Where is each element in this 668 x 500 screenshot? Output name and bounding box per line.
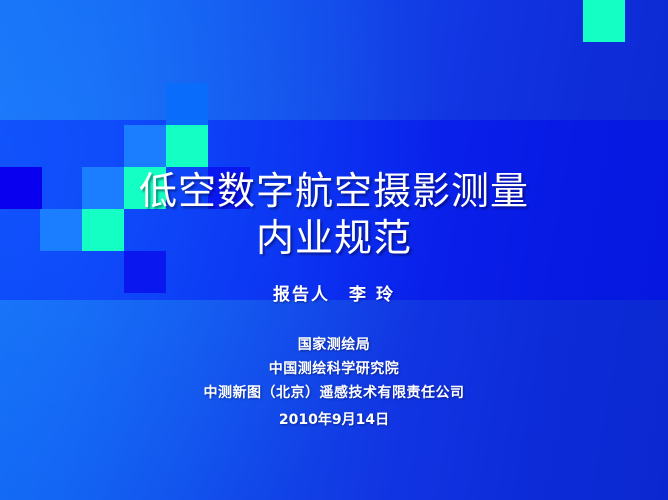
slide-content: 低空数字航空摄影测量 内业规范 报告人 李 玲 国家测绘局 中国测绘科学研究院 … (0, 0, 668, 500)
slide-title: 低空数字航空摄影测量 内业规范 (0, 168, 668, 262)
organization-line: 中国测绘科学研究院 (0, 357, 668, 381)
organization-line: 中测新图（北京）遥感技术有限责任公司 (0, 381, 668, 405)
presentation-date: 2010年9月14日 (0, 408, 668, 432)
organization-line: 国家测绘局 (0, 333, 668, 357)
presentation-title-slide: 低空数字航空摄影测量 内业规范 报告人 李 玲 国家测绘局 中国测绘科学研究院 … (0, 0, 668, 500)
presenter-line: 报告人 李 玲 (0, 280, 668, 305)
organization-block: 国家测绘局 中国测绘科学研究院 中测新图（北京）遥感技术有限责任公司 2010年… (0, 333, 668, 432)
